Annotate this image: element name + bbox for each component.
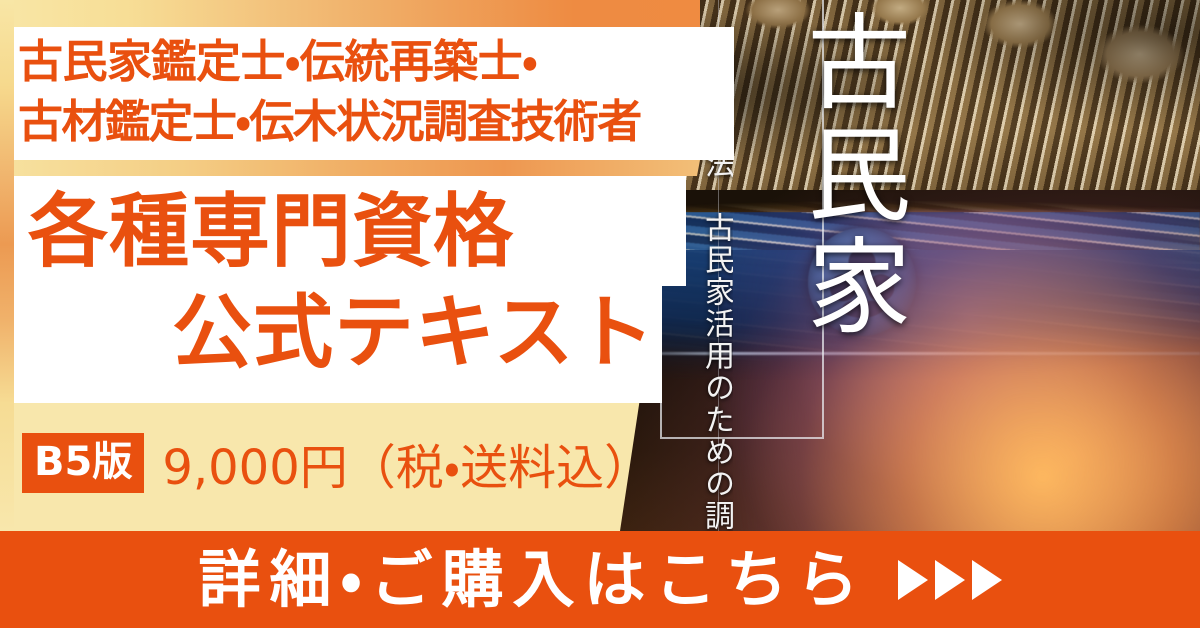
qualification-list: 古民家鑑定士・伝統再築士・ 古材鑑定士・伝木状況調査技術者 (18, 32, 718, 152)
left-gradient-strip (0, 0, 14, 531)
cta-arrows (898, 560, 1002, 600)
top-gradient-strip (0, 0, 700, 27)
triangle-right-icon (935, 560, 965, 600)
headline-line-1: 各種専門資格 (14, 182, 674, 283)
cta-button[interactable]: 詳細・ご購入はこちら (0, 531, 1200, 628)
qualification-line-2: 古材鑑定士・伝木状況調査技術者 (18, 92, 718, 152)
book-cover-title: 古民家 (786, 8, 909, 344)
headline-line-2: 公式テキスト (14, 283, 674, 384)
page-title: 各種専門資格 公式テキスト (14, 182, 674, 384)
status-badge: B5版 (22, 433, 144, 493)
cta-content: 詳細・ご購入はこちら (198, 549, 1001, 611)
mid-gradient-strip (0, 160, 700, 176)
triangle-right-icon (898, 560, 928, 600)
triangle-right-icon (972, 560, 1002, 600)
price-amount: 9,000円（税・送料込） (162, 428, 652, 498)
cta-label: 詳細・ご購入はこちら (198, 549, 867, 611)
price-row: B5版 9,000円（税・送料込） (22, 428, 652, 498)
promo-banner: 伝統構法 古民家活用のための調査と再生の 古民家 古民家鑑定士・伝統再築士・ 古… (0, 0, 1200, 628)
qualification-line-1: 古民家鑑定士・伝統再築士・ (18, 32, 718, 92)
